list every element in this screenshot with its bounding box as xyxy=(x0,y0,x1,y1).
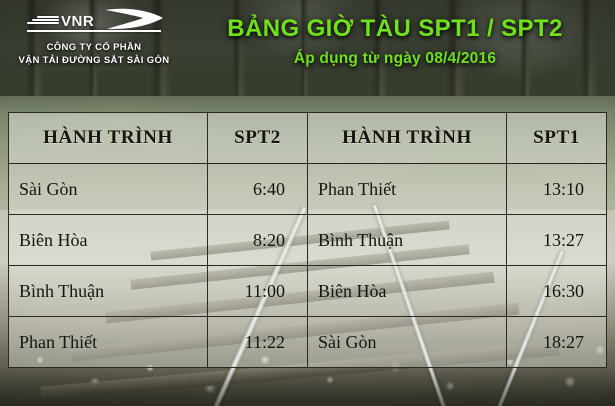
column-header-route-spt1: HÀNH TRÌNH xyxy=(308,113,507,164)
logo-train-swoosh-icon xyxy=(103,6,165,32)
cell-time-spt1: 13:27 xyxy=(507,215,607,266)
cell-time-spt2: 11:22 xyxy=(208,317,308,368)
company-name-line1: CÔNG TY CỔ PHẦN xyxy=(8,41,180,54)
logo-vnr-text: VNR xyxy=(61,13,94,30)
table-row: Biên Hòa 8:20 Bình Thuận 13:27 xyxy=(9,215,607,266)
poster-header: VNR CÔNG TY CỔ PHẦN VẬN TẢI ĐƯỜNG SẮT SÀ… xyxy=(0,0,615,112)
table-row: Phan Thiết 11:22 Sài Gòn 18:27 xyxy=(9,317,607,368)
company-logo-block: VNR CÔNG TY CỔ PHẦN VẬN TẢI ĐƯỜNG SẮT SÀ… xyxy=(8,6,180,67)
cell-route-spt1: Biên Hòa xyxy=(308,266,507,317)
table-row: Sài Gòn 6:40 Phan Thiết 13:10 xyxy=(9,164,607,215)
company-name-line2: VẬN TẢI ĐƯỜNG SẮT SÀI GÒN xyxy=(8,54,180,67)
vnr-logo-icon: VNR xyxy=(19,6,169,36)
logo-underline xyxy=(27,30,161,32)
cell-route-spt2: Sài Gòn xyxy=(9,164,208,215)
cell-time-spt2: 6:40 xyxy=(208,164,308,215)
cell-time-spt1: 13:10 xyxy=(507,164,607,215)
logo-speed-lines-icon xyxy=(25,16,59,29)
cell-route-spt2: Biên Hòa xyxy=(9,215,208,266)
column-header-spt1: SPT1 xyxy=(507,113,607,164)
page-title: BẢNG GIỜ TÀU SPT1 / SPT2 xyxy=(180,14,610,44)
column-header-route-spt2: HÀNH TRÌNH xyxy=(9,113,208,164)
cell-route-spt1: Sài Gòn xyxy=(308,317,507,368)
table-row: Bình Thuận 11:00 Biên Hòa 16:30 xyxy=(9,266,607,317)
cell-route-spt1: Phan Thiết xyxy=(308,164,507,215)
table-header-row: HÀNH TRÌNH SPT2 HÀNH TRÌNH SPT1 xyxy=(9,113,607,164)
cell-route-spt2: Bình Thuận xyxy=(9,266,208,317)
page-subtitle: Áp dụng từ ngày 08/4/2016 xyxy=(180,49,610,69)
poster-title-block: BẢNG GIỜ TÀU SPT1 / SPT2 Áp dụng từ ngày… xyxy=(180,14,610,69)
cell-time-spt1: 16:30 xyxy=(507,266,607,317)
column-header-spt2: SPT2 xyxy=(208,113,308,164)
timetable: HÀNH TRÌNH SPT2 HÀNH TRÌNH SPT1 Sài Gòn … xyxy=(8,112,607,368)
timetable-container: HÀNH TRÌNH SPT2 HÀNH TRÌNH SPT1 Sài Gòn … xyxy=(8,112,607,368)
cell-route-spt2: Phan Thiết xyxy=(9,317,208,368)
cell-time-spt2: 8:20 xyxy=(208,215,308,266)
cell-time-spt2: 11:00 xyxy=(208,266,308,317)
cell-route-spt1: Bình Thuận xyxy=(308,215,507,266)
timetable-poster: VNR CÔNG TY CỔ PHẦN VẬN TẢI ĐƯỜNG SẮT SÀ… xyxy=(0,0,615,406)
cell-time-spt1: 18:27 xyxy=(507,317,607,368)
